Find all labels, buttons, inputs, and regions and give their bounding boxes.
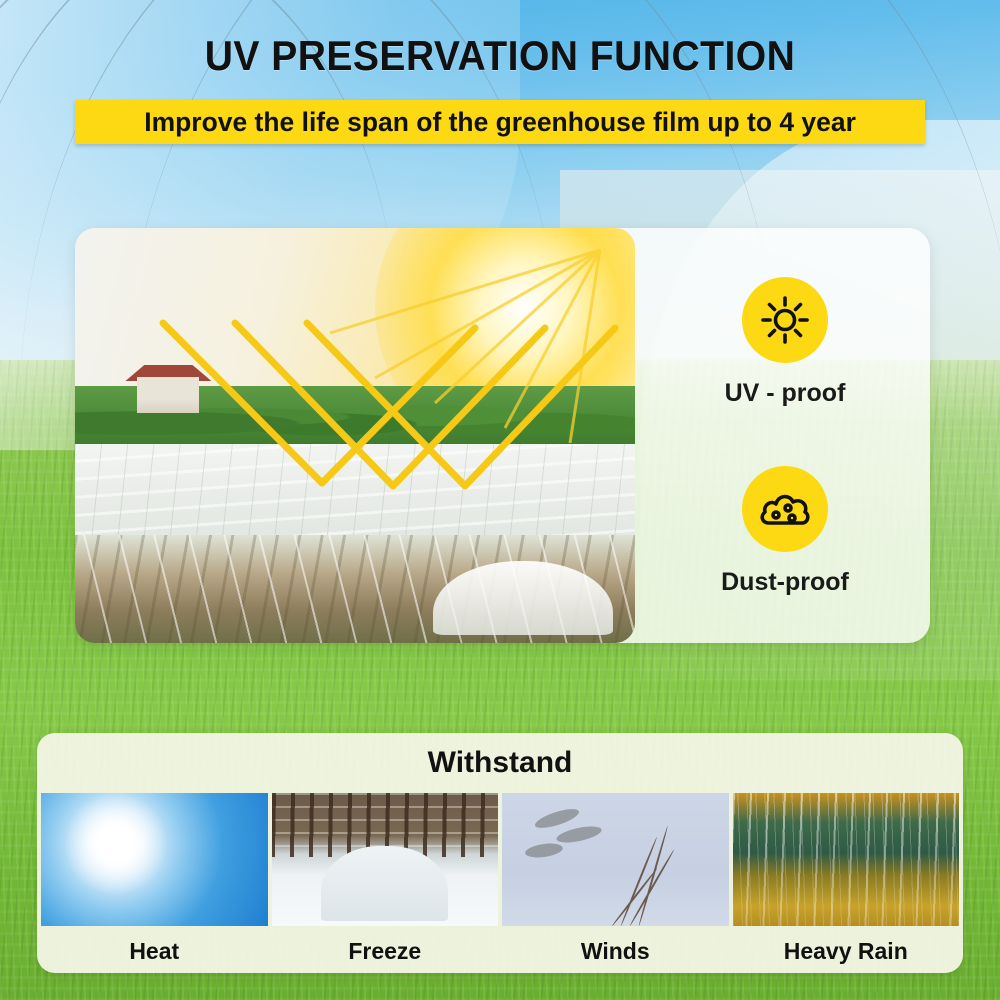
photo-house (137, 377, 199, 413)
subtitle-text: Improve the life span of the greenhouse … (144, 107, 856, 138)
benefit-label: UV - proof (725, 379, 846, 408)
withstand-label: Heavy Rain (733, 930, 960, 973)
withstand-label: Winds (502, 930, 729, 973)
thumb-greenhouse-dome (321, 846, 448, 920)
benefit-dust-proof[interactable]: Dust-proof (721, 466, 849, 597)
withstand-panel: Withstand Heat Freeze Winds Heavy Ra (37, 733, 963, 973)
withstand-thumb-heat (41, 793, 268, 926)
benefit-label: Dust-proof (721, 568, 849, 597)
withstand-thumb-heavy-rain (733, 793, 960, 926)
benefit-list: UV - proof Dust-proof (650, 248, 920, 626)
subtitle-banner: Improve the life span of the greenhouse … (75, 100, 925, 144)
withstand-labels: Heat Freeze Winds Heavy Rain (37, 930, 963, 973)
withstand-title: Withstand (37, 746, 963, 780)
thumb-grass-blade (638, 826, 669, 926)
withstand-thumbnails (37, 793, 963, 926)
benefit-uv-proof[interactable]: UV - proof (725, 277, 846, 408)
feature-photo (75, 228, 635, 643)
withstand-thumb-winds (502, 793, 729, 926)
product-feature-graphic: UV PRESERVATION FUNCTION Improve the lif… (0, 0, 1000, 1000)
withstand-thumb-freeze (272, 793, 499, 926)
withstand-label: Freeze (272, 930, 499, 973)
thumb-grass-plume (556, 823, 604, 845)
sun-icon (742, 277, 828, 363)
page-title: UV PRESERVATION FUNCTION (35, 32, 965, 80)
withstand-label: Heat (41, 930, 268, 973)
thumb-grass-plume (533, 805, 581, 832)
dust-cloud-icon (742, 466, 828, 552)
thumb-grass-plume (524, 841, 563, 859)
